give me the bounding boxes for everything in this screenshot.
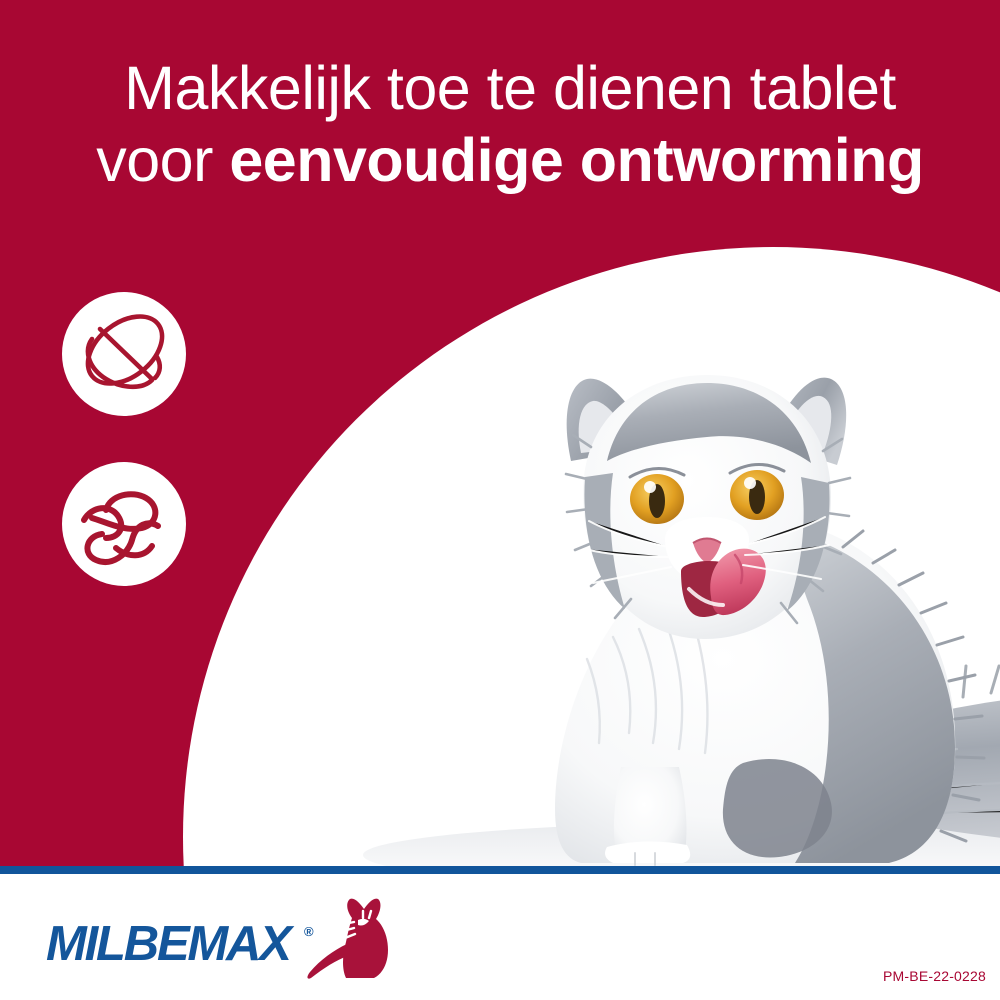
tablet-pill-icon [62,292,186,416]
material-code: PM-BE-22-0228 [883,968,986,984]
headline-line-2: voor eenvoudige ontworming [60,124,960,196]
headline-line-2-bold: eenvoudige ontworming [229,126,923,194]
feature-badge-tablet [62,292,186,416]
brand-divider [0,866,1000,874]
page-title: Makkelijk toe te dienen tablet voor eenv… [60,52,960,196]
worm-icon [62,462,186,586]
logo-wordmark: MILBEMAX [46,920,290,969]
footer: MILBEMAX ® [0,874,1000,1000]
advertisement-root: Makkelijk toe te dienen tablet voor eenv… [0,0,1000,1000]
headline-line-2-regular: voor [96,126,229,194]
feature-badge-worm [62,462,186,586]
milbemax-logo[interactable]: MILBEMAX ® [46,898,356,976]
hero-panel: Makkelijk toe te dienen tablet voor eenv… [0,0,1000,866]
cat-photo [183,247,1000,866]
headline-line-1: Makkelijk toe te dienen tablet [60,52,960,124]
photo-disc [183,247,1000,866]
milbemax-cat-mark-icon [284,896,399,982]
